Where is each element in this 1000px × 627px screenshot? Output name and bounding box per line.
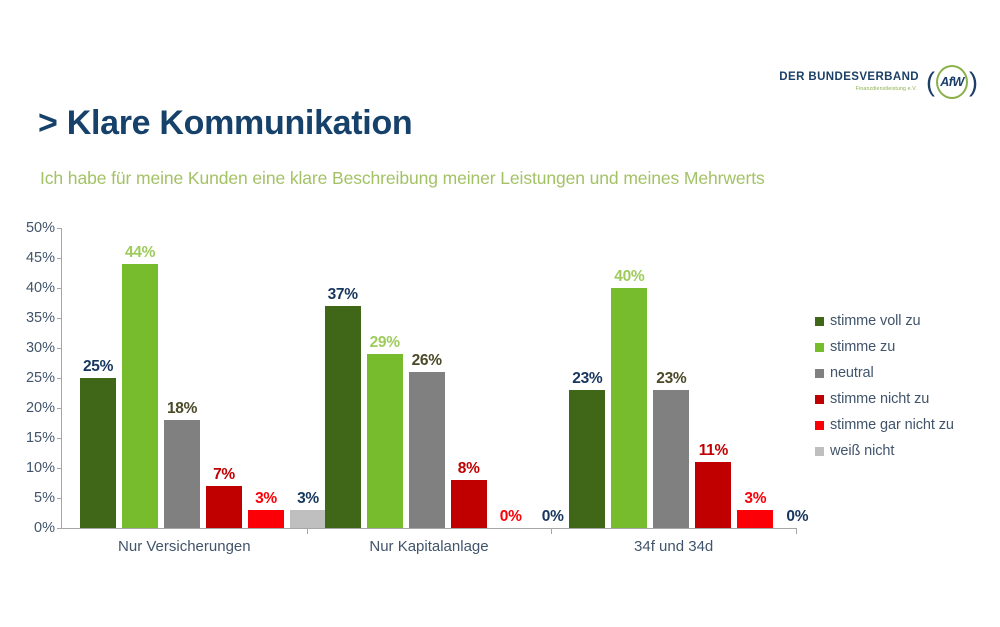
bar[interactable]: 8%	[451, 480, 487, 528]
y-axis-tick-label: 45%	[26, 250, 55, 266]
bar-slot[interactable]: 25%	[80, 228, 116, 528]
y-axis-tick-label: 40%	[26, 280, 55, 296]
bar-value-label: 0%	[786, 508, 808, 526]
bar[interactable]: 11%	[695, 462, 731, 528]
logo-left-paren: (	[926, 69, 935, 96]
y-axis-tick-label: 20%	[26, 400, 55, 416]
legend-item-label: stimme nicht zu	[830, 391, 929, 407]
legend-swatch-icon	[815, 317, 824, 326]
bar[interactable]: 26%	[409, 372, 445, 528]
bar-slot[interactable]: 11%	[695, 228, 731, 528]
bar-value-label: 8%	[458, 460, 480, 478]
bar-slot[interactable]: 3%	[248, 228, 284, 528]
bar-value-label: 7%	[213, 466, 235, 484]
legend-item[interactable]: stimme zu	[815, 334, 995, 360]
bar-slot[interactable]: 40%	[611, 228, 647, 528]
y-axis-tick-mark	[57, 528, 62, 529]
logo-main-text: DER BUNDESVERBAND	[779, 72, 919, 84]
legend-item[interactable]: weiß nicht	[815, 438, 995, 464]
chart-legend: stimme voll zustimme zuneutralstimme nic…	[815, 308, 995, 464]
legend-item-label: neutral	[830, 365, 874, 381]
y-axis-tick-label: 25%	[26, 370, 55, 386]
bar-slot[interactable]: 44%	[122, 228, 158, 528]
bar-value-label: 44%	[125, 244, 155, 262]
bar-slot[interactable]: 3%	[737, 228, 773, 528]
bar-value-label: 23%	[656, 370, 686, 388]
bar[interactable]: 44%	[122, 264, 158, 528]
bar[interactable]: 7%	[206, 486, 242, 528]
legend-swatch-icon	[815, 369, 824, 378]
bar-slot[interactable]: 0%	[493, 228, 529, 528]
legend-swatch-icon	[815, 447, 824, 456]
afw-logo: DER BUNDESVERBAND Finanzdienstleistung e…	[779, 66, 978, 98]
bar-slot[interactable]: 18%	[164, 228, 200, 528]
bar-value-label: 37%	[328, 286, 358, 304]
bar[interactable]: 23%	[653, 390, 689, 528]
legend-swatch-icon	[815, 343, 824, 352]
logo-text-block: DER BUNDESVERBAND Finanzdienstleistung e…	[779, 72, 919, 92]
legend-item-label: stimme gar nicht zu	[830, 417, 954, 433]
bar-slot[interactable]: 29%	[367, 228, 403, 528]
y-axis-tick-label: 10%	[26, 460, 55, 476]
bar-value-label: 3%	[255, 490, 277, 508]
bar[interactable]: 23%	[569, 390, 605, 528]
y-axis-tick-label: 50%	[26, 220, 55, 236]
bar-value-label: 25%	[83, 358, 113, 376]
bar-value-label: 0%	[500, 508, 522, 526]
bar[interactable]: 40%	[611, 288, 647, 528]
bar-value-label: 29%	[370, 334, 400, 352]
plot-area: 50%45%40%35%30%25%20%15%10%5%0%25%44%18%…	[61, 228, 796, 529]
bar-slot[interactable]: 23%	[653, 228, 689, 528]
logo-afw-text: AfW	[940, 75, 964, 89]
y-axis-tick-label: 15%	[26, 430, 55, 446]
legend-item[interactable]: stimme nicht zu	[815, 386, 995, 412]
bar[interactable]: 3%	[737, 510, 773, 528]
x-axis-separator-tick	[307, 528, 308, 534]
logo-mark: ( AfW )	[926, 66, 978, 98]
legend-item-label: stimme zu	[830, 339, 895, 355]
page-subtitle: Ich habe für meine Kunden eine klare Bes…	[40, 168, 765, 189]
logo-right-paren: )	[969, 69, 978, 96]
y-axis-tick-label: 35%	[26, 310, 55, 326]
legend-item[interactable]: stimme gar nicht zu	[815, 412, 995, 438]
bar[interactable]: 37%	[325, 306, 361, 528]
legend-item[interactable]: neutral	[815, 360, 995, 386]
legend-swatch-icon	[815, 395, 824, 404]
bar-value-label: 11%	[699, 442, 728, 460]
legend-swatch-icon	[815, 421, 824, 430]
y-axis-tick-label: 0%	[34, 520, 55, 536]
legend-item[interactable]: stimme voll zu	[815, 308, 995, 334]
x-axis-category-label: Nur Kapitalanlage	[307, 538, 552, 555]
bar-slot[interactable]: 37%	[325, 228, 361, 528]
bar-value-label: 3%	[744, 490, 766, 508]
bar-slot[interactable]: 0%	[779, 228, 815, 528]
bar-slot[interactable]: 26%	[409, 228, 445, 528]
x-axis-category-label: Nur Versicherungen	[62, 538, 307, 555]
y-axis-tick-label: 30%	[26, 340, 55, 356]
bar-value-label: 23%	[572, 370, 602, 388]
bar-group: 37%29%26%8%0%0%Nur Kapitalanlage	[307, 228, 552, 528]
bar-slot[interactable]: 7%	[206, 228, 242, 528]
x-axis-separator-tick	[551, 528, 552, 534]
bar-group: 23%40%23%11%3%0%34f und 34d	[551, 228, 796, 528]
bar-slot[interactable]: 23%	[569, 228, 605, 528]
logo-sub-text: Finanzdienstleistung e.V.	[779, 87, 917, 92]
bar-value-label: 26%	[412, 352, 442, 370]
y-axis-tick-label: 5%	[34, 490, 55, 506]
legend-item-label: weiß nicht	[830, 443, 894, 459]
bar-slot[interactable]: 8%	[451, 228, 487, 528]
page-title: > Klare Kommunikation	[38, 104, 412, 143]
bar-value-label: 18%	[167, 400, 197, 418]
bar[interactable]: 18%	[164, 420, 200, 528]
bar-value-label: 40%	[614, 268, 644, 286]
bar-group: 25%44%18%7%3%3%Nur Versicherungen	[62, 228, 307, 528]
bar[interactable]: 3%	[248, 510, 284, 528]
bar[interactable]: 29%	[367, 354, 403, 528]
legend-item-label: stimme voll zu	[830, 313, 920, 329]
x-axis-category-label: 34f und 34d	[551, 538, 796, 555]
x-axis-separator-tick	[796, 528, 797, 534]
logo-circle-icon: AfW	[936, 65, 968, 99]
bar[interactable]: 25%	[80, 378, 116, 528]
